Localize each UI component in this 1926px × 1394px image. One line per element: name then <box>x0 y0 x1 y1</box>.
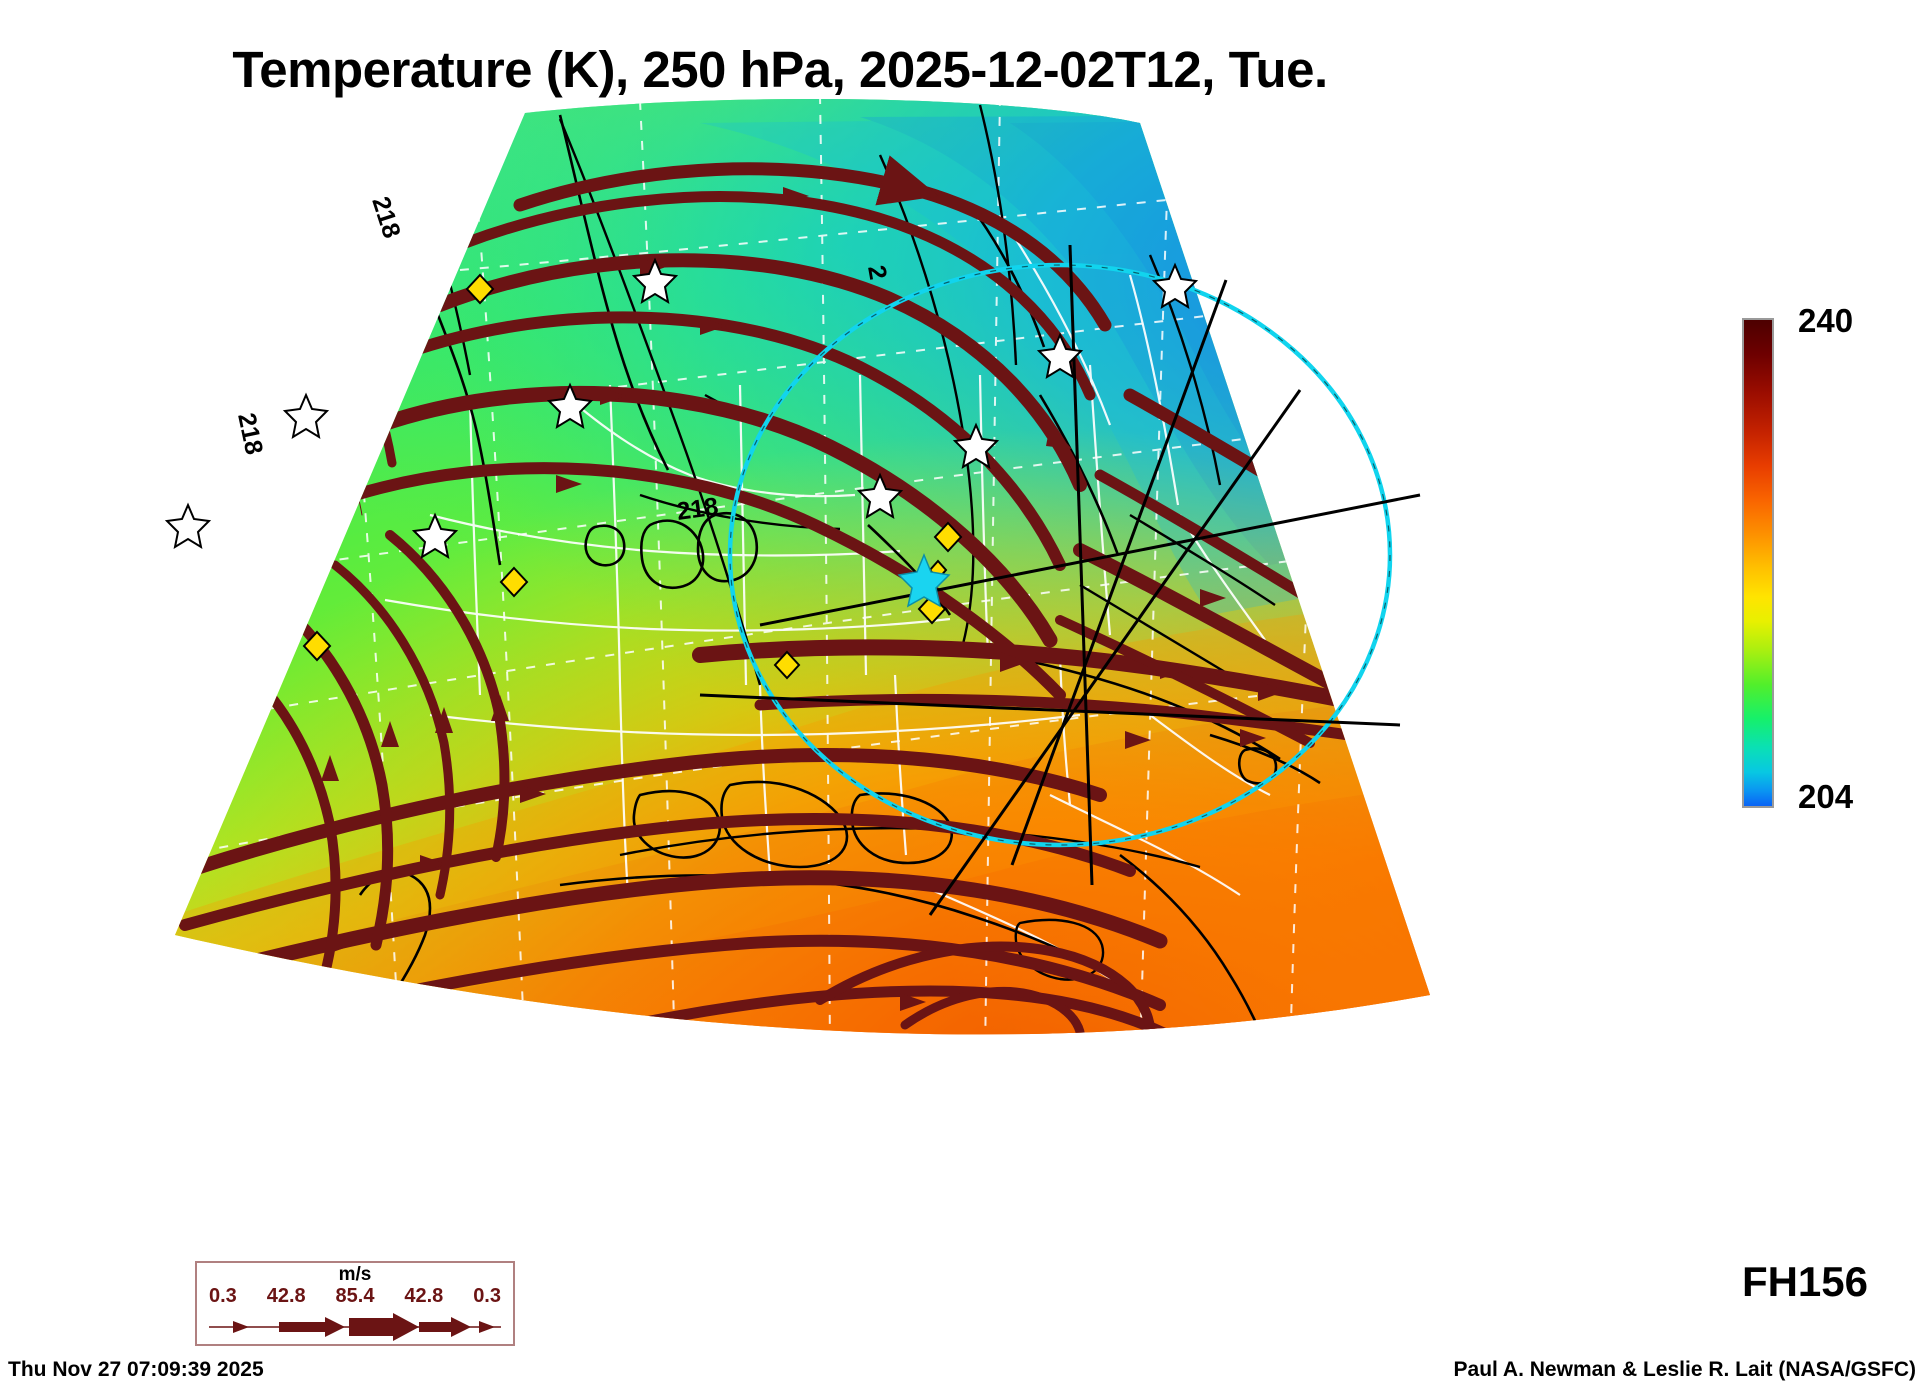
page-title: Temperature (K), 250 hPa, 2025-12-02T12,… <box>0 40 1560 99</box>
contour-label-218-nw: 218 <box>366 193 406 241</box>
map-panel[interactable]: 218 218 218 2 <box>0 95 1700 1055</box>
white-star-icon <box>285 395 327 437</box>
wind-legend-value-2: 85.4 <box>336 1285 375 1308</box>
wind-legend-value-3: 42.8 <box>404 1285 443 1308</box>
author-credit: Paul A. Newman & Leslie R. Lait (NASA/GS… <box>1454 1358 1916 1382</box>
forecast-hour-label: FH156 <box>1742 1258 1868 1306</box>
wind-legend-value-1: 42.8 <box>267 1285 306 1308</box>
colorbar-gradient[interactable] <box>1742 318 1774 808</box>
colorbar-min-label: 204 <box>1798 778 1853 816</box>
contour-label-218-w: 218 <box>232 410 268 457</box>
wind-legend-unit-label: m/s <box>197 1264 513 1286</box>
wind-speed-legend: m/s 0.3 42.8 85.4 42.8 0.3 <box>195 1261 515 1346</box>
generation-timestamp: Thu Nov 27 07:09:39 2025 <box>8 1358 264 1382</box>
contour-label-218-c: 218 <box>675 492 720 526</box>
wind-legend-arrow-scale <box>207 1313 503 1341</box>
wind-legend-value-0: 0.3 <box>209 1285 237 1308</box>
white-star-icon <box>167 505 209 547</box>
colorbar[interactable]: 240 204 <box>1742 318 1922 818</box>
colorbar-max-label: 240 <box>1798 302 1853 340</box>
wind-legend-values: 0.3 42.8 85.4 42.8 0.3 <box>197 1285 513 1308</box>
wind-legend-value-4: 0.3 <box>473 1285 501 1308</box>
